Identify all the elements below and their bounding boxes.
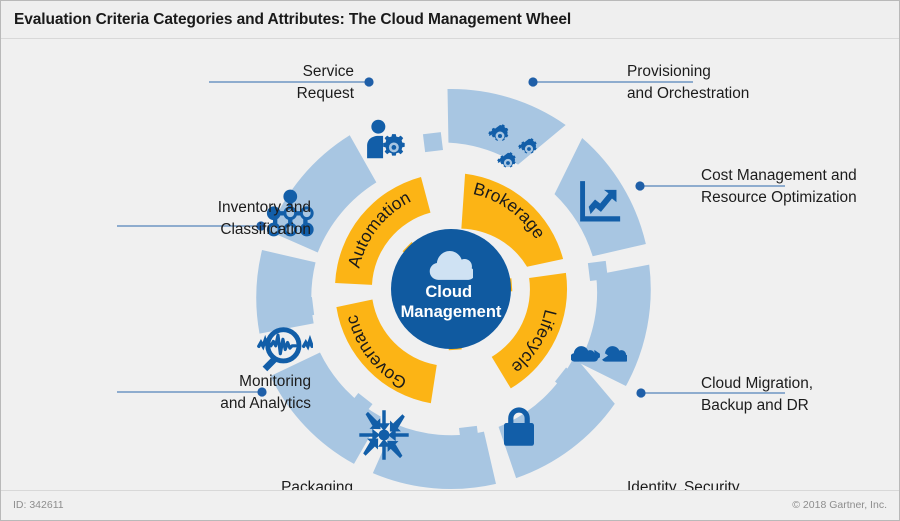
hub[interactable]: Cloud Management xyxy=(391,229,511,349)
callout-inventory-classification: Inventory and Classification xyxy=(61,197,311,242)
callout-monitoring-analytics: Monitoring and Analytics xyxy=(61,371,311,416)
person-gear-icon xyxy=(367,120,405,158)
footer-bar: ID: 342611 © 2018 Gartner, Inc. xyxy=(1,490,899,520)
outer-segment-provisioning-orchestration[interactable] xyxy=(548,132,646,260)
outer-segment-monitoring-analytics[interactable] xyxy=(249,244,323,334)
connector-tab xyxy=(588,261,608,281)
page-title: Evaluation Criteria Categories and Attri… xyxy=(14,11,571,29)
connector-tab xyxy=(294,297,314,317)
title-bar: Evaluation Criteria Categories and Attri… xyxy=(1,1,899,39)
connector-tab xyxy=(459,426,479,446)
callout-service-request: Service Request xyxy=(204,61,354,106)
cloud-management-wheel: Brokerage Lifecycle Governance Automatio… xyxy=(1,39,900,492)
hub-label-line1: Cloud xyxy=(425,283,472,301)
diagram-canvas: Evaluation Criteria Categories and Attri… xyxy=(0,0,900,521)
callout-cloud-migration: Cloud Migration, Backup and DR xyxy=(701,373,897,418)
copyright-notice: © 2018 Gartner, Inc. xyxy=(792,499,887,511)
hub-label-line2: Management xyxy=(401,303,502,321)
diagram-id: ID: 342611 xyxy=(13,499,64,511)
callout-cost-management: Cost Management and Resource Optimizatio… xyxy=(701,165,897,210)
callout-provisioning-orchestration: Provisioning and Orchestration xyxy=(627,61,889,106)
connector-tab xyxy=(423,132,443,152)
